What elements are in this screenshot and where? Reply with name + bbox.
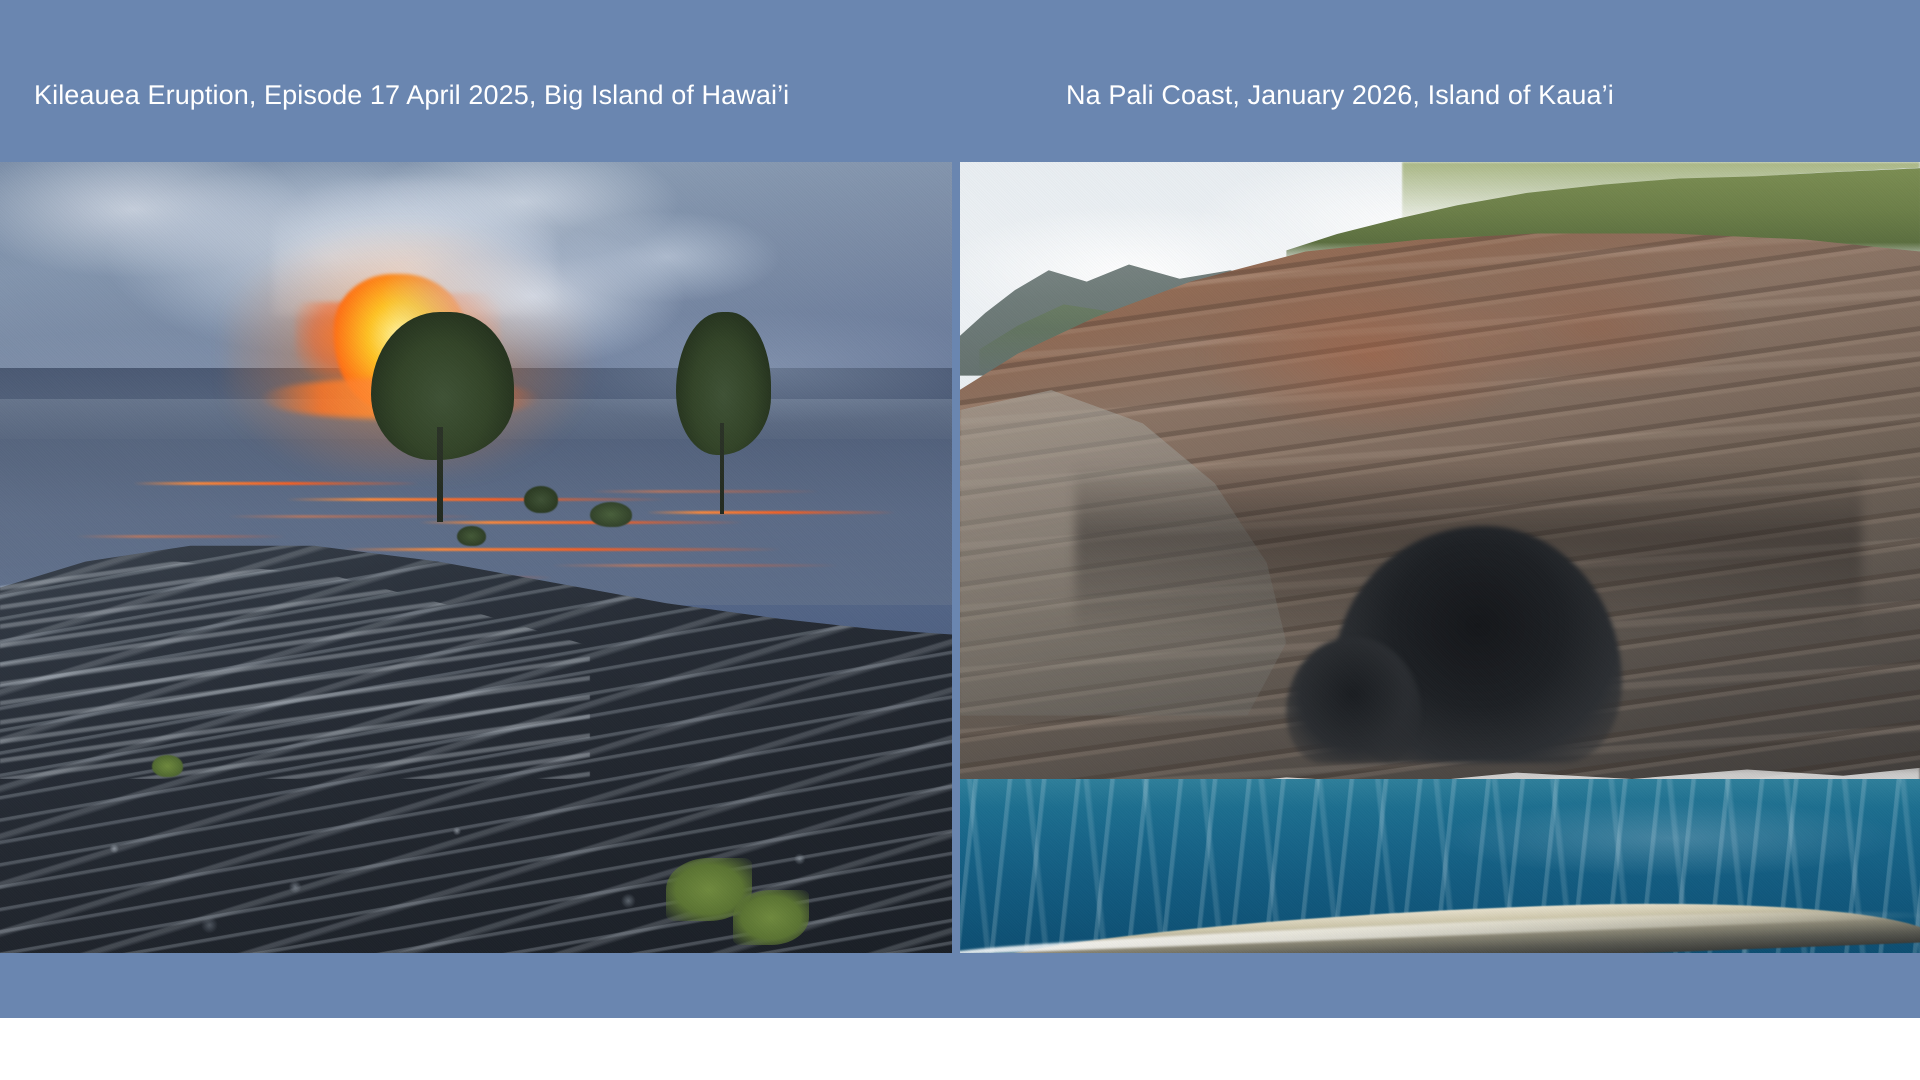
tree-trunk bbox=[720, 423, 724, 514]
shrub bbox=[152, 755, 182, 777]
tree-trunk bbox=[437, 427, 443, 522]
shrub bbox=[524, 486, 558, 513]
slide-canvas: Kileauea Eruption, Episode 17 April 2025… bbox=[0, 0, 1920, 1018]
photo-na-pali-coast bbox=[960, 162, 1920, 953]
ohia-tree bbox=[371, 312, 514, 518]
panel-title-left: Kileauea Eruption, Episode 17 April 2025… bbox=[34, 80, 789, 111]
panel-title-right: Na Pali Coast, January 2026, Island of K… bbox=[1066, 80, 1614, 111]
slide-root: Kileauea Eruption, Episode 17 April 2025… bbox=[0, 0, 1920, 1080]
shrub bbox=[457, 526, 486, 547]
photo-kilauea-eruption bbox=[0, 162, 952, 953]
kilauea-rubble-field bbox=[0, 779, 952, 953]
ohia-tree bbox=[676, 312, 771, 510]
fern-frond bbox=[733, 890, 809, 945]
shrub bbox=[590, 502, 632, 527]
